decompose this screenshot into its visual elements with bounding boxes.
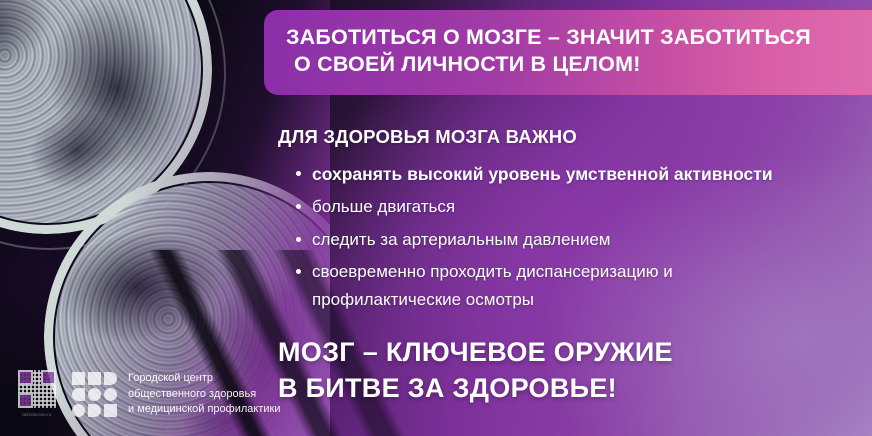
bullet-text: своевременно проходить диспансеризацию и	[312, 262, 673, 281]
list-item: сохранять высокий уровень умственной акт…	[278, 160, 864, 188]
health-poster: R ЗАБОТИТЬСЯ О МОЗГЕ – ЗНАЧИТ ЗАБОТИТЬСЯ…	[0, 0, 872, 436]
qr-corner-marker	[18, 393, 33, 408]
bullet-text: сохранять высокий уровень умственной акт…	[312, 164, 773, 184]
logo-cell-square	[88, 372, 101, 385]
list-item: больше двигаться	[278, 193, 864, 221]
organization-name: Городской центр общественного здоровья и…	[128, 371, 280, 418]
headline-line-2: О СВОЕЙ ЛИЧНОСТИ В ЦЕЛОМ!	[286, 51, 872, 78]
logo-cell-circle	[88, 388, 101, 401]
bullet-text: больше двигаться	[312, 197, 455, 216]
qr-code-group[interactable]: takzdorovo.ru	[18, 370, 56, 417]
logo-shape-grid-icon	[72, 372, 117, 417]
slogan-line-1: МОЗГ – КЛЮЧЕВОЕ ОРУЖИЕ	[278, 335, 838, 371]
list-item: следить за артериальным давлением	[278, 226, 864, 254]
organization-logo-block: takzdorovo.ru Городской центр общественн…	[18, 370, 280, 418]
content-section: ДЛЯ ЗДОРОВЬЯ МОЗГА ВАЖНО сохранять высок…	[278, 126, 864, 318]
organization-name-line-1: Городской центр	[128, 371, 280, 387]
organization-name-line-3: и медицинской профилактики	[128, 402, 280, 418]
logo-cell-square	[104, 404, 117, 417]
logo-cell-circle	[104, 388, 117, 401]
headline-line-1: ЗАБОТИТЬСЯ О МОЗГЕ – ЗНАЧИТ ЗАБОТИТЬСЯ	[286, 24, 872, 51]
logo-cell-square	[72, 372, 85, 385]
list-item: своевременно проходить диспансеризацию и…	[278, 258, 864, 313]
qr-code-caption: takzdorovo.ru	[22, 412, 51, 417]
logo-cell-left-round	[72, 388, 85, 401]
bullet-text: следить за артериальным давлением	[312, 230, 610, 249]
advice-bullet-list: сохранять высокий уровень умственной акт…	[278, 160, 864, 313]
slogan-section: МОЗГ – КЛЮЧЕВОЕ ОРУЖИЕ В БИТВЕ ЗА ЗДОРОВ…	[278, 335, 838, 406]
qr-code-icon[interactable]	[18, 370, 56, 408]
logo-cell-right-round	[88, 404, 101, 417]
bullet-text-continuation: профилактические осмотры	[312, 286, 864, 314]
logo-cell-circle	[72, 404, 85, 417]
headline-banner: ЗАБОТИТЬСЯ О МОЗГЕ – ЗНАЧИТ ЗАБОТИТЬСЯ О…	[264, 10, 872, 95]
content-heading: ДЛЯ ЗДОРОВЬЯ МОЗГА ВАЖНО	[278, 126, 864, 148]
logo-cell-right-round	[104, 372, 117, 385]
slogan-line-2: В БИТВЕ ЗА ЗДОРОВЬЕ!	[278, 371, 838, 407]
organization-name-line-2: общественного здоровья	[128, 387, 280, 403]
